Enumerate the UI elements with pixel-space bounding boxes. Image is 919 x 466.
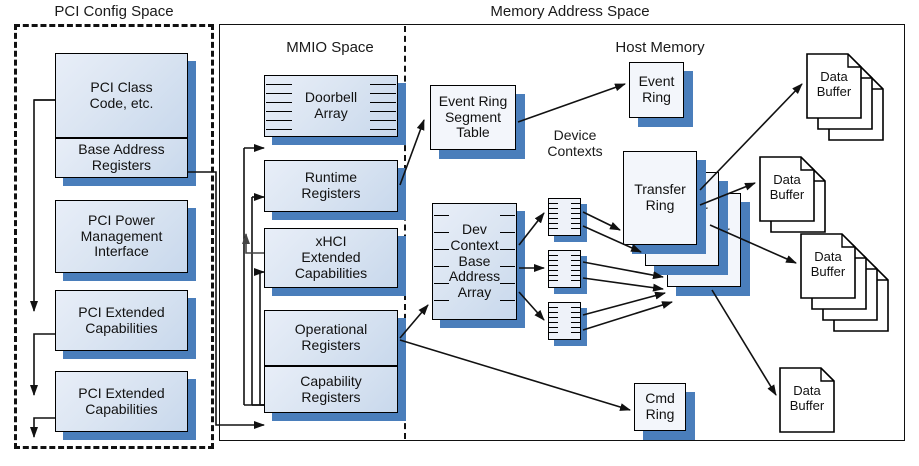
runtime-registers-label: Runtime Registers: [297, 170, 364, 201]
base-address-registers-label: Base Address Registers: [75, 142, 167, 173]
pci-extended-capabilities-2-label: PCI Extended Capabilities: [74, 386, 168, 417]
cmd-ring-label: Cmd Ring: [645, 391, 675, 423]
block-face: Doorbell Array: [264, 75, 398, 137]
doorbell-array-block[interactable]: Doorbell Array: [264, 75, 398, 137]
block-face: Dev Context Base Address Array: [432, 203, 517, 320]
page-title-pci-config-space: PCI Config Space: [14, 3, 214, 20]
data-buffer-group-4-sheet-1[interactable]: Data Buffer: [779, 367, 835, 433]
block-face: [548, 250, 581, 288]
block-face: PCI Extended Capabilities: [55, 290, 188, 351]
device-context-2[interactable]: [548, 250, 581, 288]
block-face: [548, 198, 581, 236]
event-ring-label: Event Ring: [639, 74, 675, 106]
pci-power-management-interface-label: PCI Power Management Interface: [77, 213, 167, 260]
pci-class-code-label: PCI Class Code, etc.: [87, 80, 157, 111]
operational-registers-section[interactable]: Operational Registers: [264, 310, 398, 366]
doorbell-array-label: Doorbell Array: [301, 90, 361, 121]
data-buffer-label: Data Buffer: [779, 384, 835, 414]
transfer-ring-label-1: Transfer Ring: [634, 182, 686, 214]
pci-extended-capabilities-1-block[interactable]: PCI Extended Capabilities: [55, 290, 188, 351]
cmd-ring-block[interactable]: Cmd Ring: [634, 383, 686, 431]
block-face: Transfer Ring: [623, 151, 697, 245]
capability-registers-section[interactable]: Capability Registers: [264, 366, 398, 413]
data-buffer-label: Data Buffer: [806, 70, 862, 100]
xhci-extended-capabilities-label: xHCI Extended Capabilities: [291, 234, 371, 281]
device-context-1[interactable]: [548, 198, 581, 236]
pci-class-code-section[interactable]: PCI Class Code, etc.: [55, 53, 188, 138]
data-buffer-label: Data Buffer: [759, 173, 815, 203]
data-buffer-group-2-sheet-1[interactable]: Data Buffer: [759, 156, 815, 222]
block-face: Event Ring: [629, 62, 684, 118]
xhci-extended-capabilities-block[interactable]: xHCI Extended Capabilities: [264, 228, 398, 288]
event-ring-segment-table-block[interactable]: Event Ring Segment Table: [430, 85, 516, 150]
section-label-host-memory: Host Memory: [570, 39, 750, 56]
block-face: Event Ring Segment Table: [430, 85, 516, 150]
base-address-registers-section[interactable]: Base Address Registers: [55, 138, 188, 178]
block-face: PCI Power Management Interface: [55, 200, 188, 273]
data-buffer-label: Data Buffer: [800, 250, 856, 280]
pci-extended-capabilities-2-block[interactable]: PCI Extended Capabilities: [55, 371, 188, 432]
dev-context-base-address-array-label: Dev Context Base Address Array: [445, 222, 504, 300]
device-context-3[interactable]: [548, 302, 581, 340]
xhci-architecture-diagram: PCI Config Space Memory Address Space MM…: [0, 0, 919, 466]
device-contexts-label: Device Contexts: [520, 127, 630, 159]
page-title-memory-address-space: Memory Address Space: [420, 3, 720, 20]
operational-and-capability-registers-block[interactable]: Operational Registers Capability Registe…: [264, 310, 398, 413]
block-face: xHCI Extended Capabilities: [264, 228, 398, 288]
block-face: Runtime Registers: [264, 160, 398, 212]
pci-power-management-interface-block[interactable]: PCI Power Management Interface: [55, 200, 188, 273]
transfer-ring-block-1[interactable]: Transfer Ring: [623, 151, 697, 245]
capability-registers-label: Capability Registers: [297, 374, 364, 405]
pci-class-code-and-bar-block[interactable]: PCI Class Code, etc. Base Address Regist…: [55, 53, 188, 178]
block-face: PCI Extended Capabilities: [55, 371, 188, 432]
pci-extended-capabilities-1-label: PCI Extended Capabilities: [74, 305, 168, 336]
block-face: [548, 302, 581, 340]
event-ring-block[interactable]: Event Ring: [629, 62, 684, 118]
data-buffer-group-1-sheet-1[interactable]: Data Buffer: [806, 53, 862, 119]
block-face: Cmd Ring: [634, 383, 686, 431]
section-label-mmio-space: MMIO Space: [240, 39, 420, 56]
operational-registers-label: Operational Registers: [292, 322, 370, 353]
data-buffer-group-3-sheet-1[interactable]: Data Buffer: [800, 233, 856, 299]
event-ring-segment-table-label: Event Ring Segment Table: [439, 94, 507, 142]
runtime-registers-block[interactable]: Runtime Registers: [264, 160, 398, 212]
dev-context-base-address-array-block[interactable]: Dev Context Base Address Array: [432, 203, 517, 320]
